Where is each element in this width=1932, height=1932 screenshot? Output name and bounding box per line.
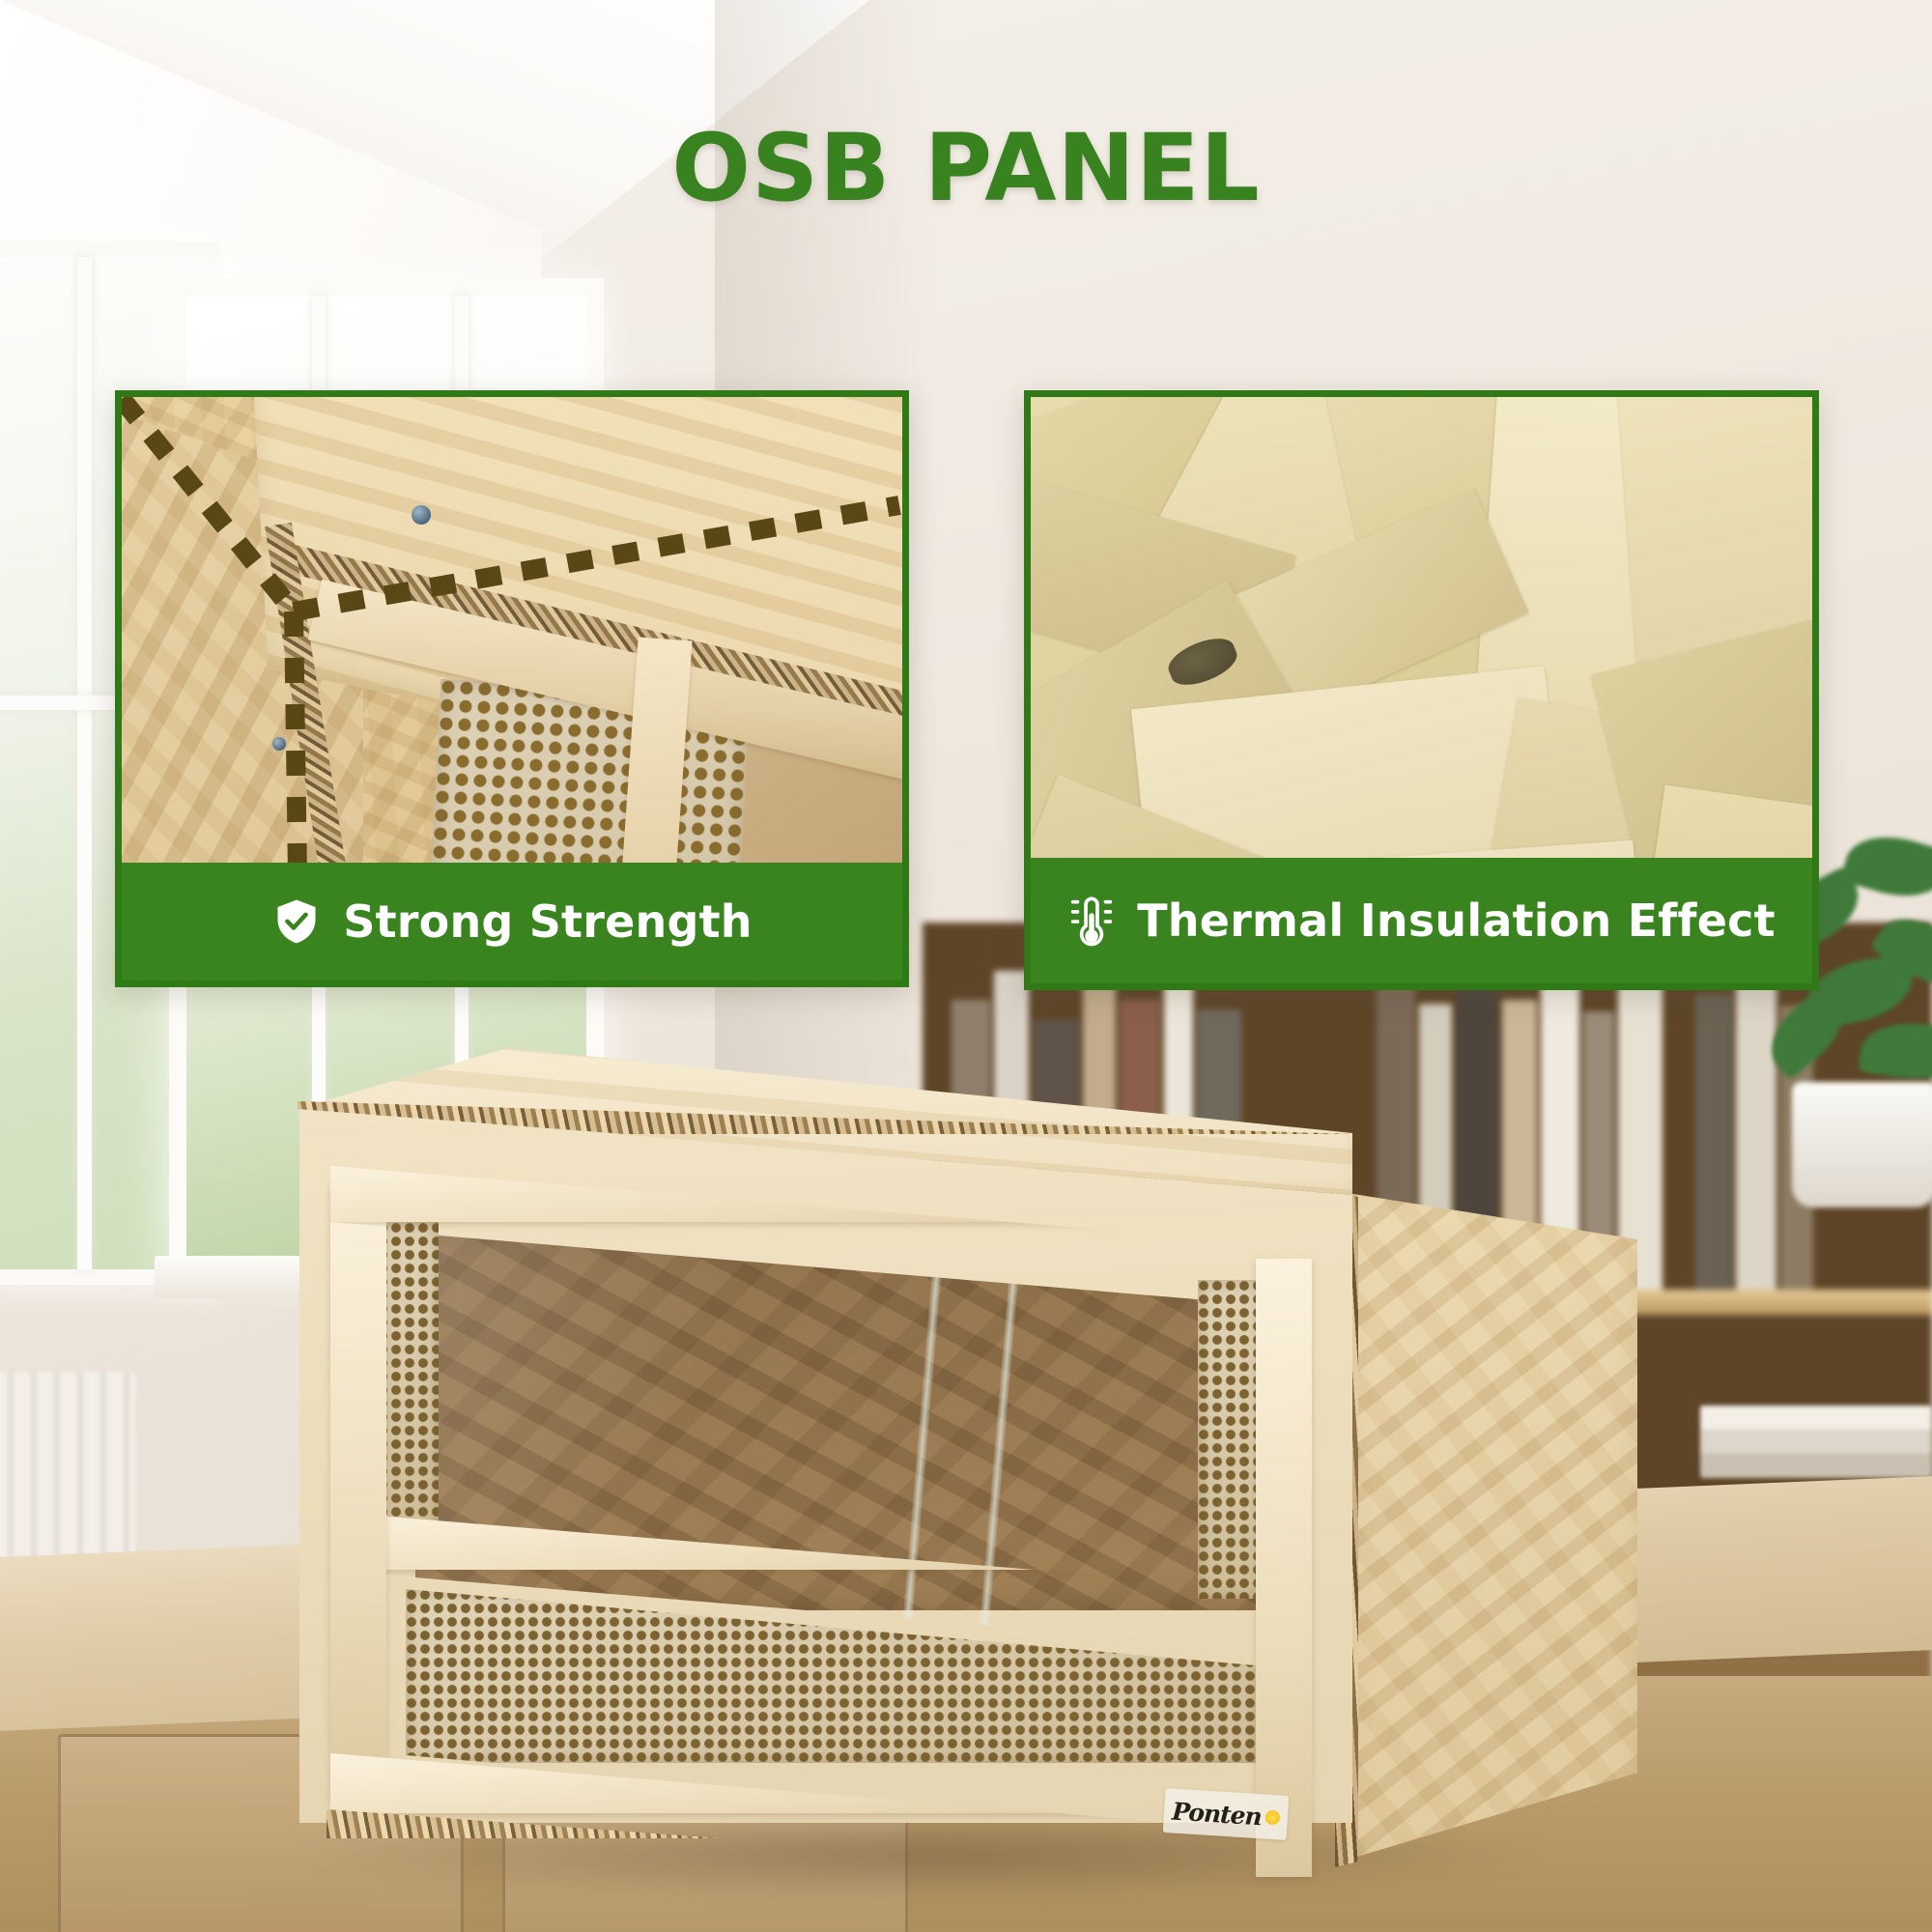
thermometer-icon xyxy=(1067,890,1116,952)
front-stile-left xyxy=(330,1183,386,1802)
feature-card-thermal-insulation[interactable]: Thermal Insulation Effect xyxy=(1024,390,1819,990)
feature-photo-osb-corner xyxy=(122,397,902,863)
window-mullion xyxy=(77,257,92,1269)
screw-head xyxy=(272,737,286,751)
feature-caption-bar: Strong Strength xyxy=(122,863,902,980)
book xyxy=(1695,994,1732,1290)
feature-photo-osb-macro xyxy=(1031,397,1812,858)
plant-pot xyxy=(1792,1082,1932,1207)
front-stile-right xyxy=(1256,1259,1312,1877)
product-side-osb-panel xyxy=(1348,1193,1637,1860)
brand-name: Ponten xyxy=(1171,1797,1262,1831)
feature-label: Thermal Insulation Effect xyxy=(1137,895,1776,947)
feature-caption-bar: Thermal Insulation Effect xyxy=(1031,858,1812,983)
screw-head xyxy=(412,505,431,525)
osb-macro-texture xyxy=(1031,397,1812,858)
book-stack xyxy=(1700,1406,1932,1478)
product-photo-osb-terrarium: Ponten xyxy=(290,1048,1546,1879)
page-title: OSB PANEL xyxy=(0,114,1932,222)
plant-leaf xyxy=(1858,1016,1932,1086)
feature-card-strong-strength[interactable]: Strong Strength xyxy=(115,390,909,987)
brand-sun-dot xyxy=(1264,1809,1280,1825)
feature-label: Strong Strength xyxy=(343,895,753,948)
shield-check-icon xyxy=(271,893,322,951)
brand-label: Ponten xyxy=(1163,1788,1290,1840)
